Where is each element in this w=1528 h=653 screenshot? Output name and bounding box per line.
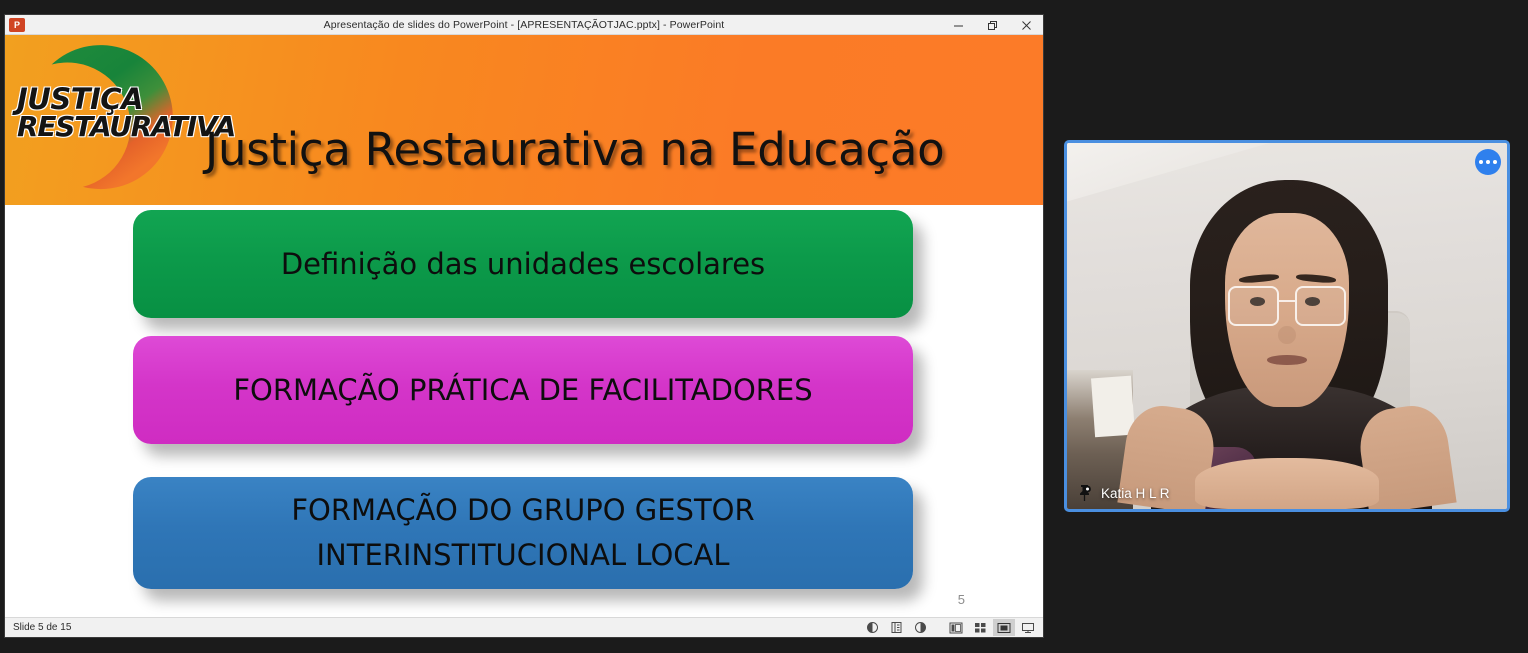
slide-body: Definição das unidades escolares FORMAÇÃ…	[5, 205, 1043, 617]
more-dot-2	[1486, 160, 1490, 164]
glasses-bridge	[1279, 300, 1296, 302]
glasses-lens-left	[1228, 286, 1279, 326]
restore-icon[interactable]	[975, 15, 1009, 35]
chip-3-label-line-2: INTERINSTITUCIONAL LOCAL	[316, 533, 729, 578]
close-icon[interactable]	[1009, 15, 1043, 35]
window-controls	[941, 15, 1043, 35]
glasses-lens-right	[1295, 286, 1346, 326]
background-paper	[1091, 376, 1135, 437]
minimize-icon[interactable]	[941, 15, 975, 35]
fit-slide-icon[interactable]	[885, 619, 907, 636]
logo-line-1: JUSTIÇA	[17, 85, 193, 113]
participant-video-tile[interactable]: Katia H L R	[1064, 140, 1510, 512]
zoom-in-icon[interactable]	[909, 619, 931, 636]
chip-3-label-line-1: FORMAÇÃO DO GRUPO GESTOR	[291, 488, 754, 533]
person-nose	[1278, 326, 1296, 344]
more-dot-1	[1479, 160, 1483, 164]
powerpoint-window: P Apresentação de slides do PowerPoint -…	[4, 14, 1044, 638]
chip-1-label: Definição das unidades escolares	[281, 247, 765, 281]
slide-sorter-icon[interactable]	[969, 619, 991, 636]
more-dot-3	[1493, 160, 1497, 164]
reading-view-icon[interactable]	[993, 619, 1015, 636]
person-mouth	[1267, 355, 1307, 365]
window-title: Apresentação de slides do PowerPoint - […	[5, 19, 1043, 31]
video-feed	[1067, 143, 1507, 509]
justica-restaurativa-logo: JUSTIÇA RESTAURATIVA	[11, 37, 197, 201]
status-bar: Slide 5 de 15	[5, 617, 1043, 637]
slide-title: Justiça Restaurativa na Educação	[205, 123, 944, 176]
window-titlebar[interactable]: P Apresentação de slides do PowerPoint -…	[5, 15, 1043, 35]
slide-canvas[interactable]: JUSTIÇA RESTAURATIVA Justiça Restaurativ…	[5, 35, 1043, 617]
chip-2-label: FORMAÇÃO PRÁTICA DE FACILITADORES	[233, 373, 812, 407]
screen-root: P Apresentação de slides do PowerPoint -…	[0, 0, 1528, 653]
pin-icon[interactable]	[1076, 483, 1094, 503]
person-glasses	[1228, 286, 1347, 326]
chip-definicao-unidades-escolares[interactable]: Definição das unidades escolares	[133, 210, 913, 318]
chip-formacao-pratica-facilitadores[interactable]: FORMAÇÃO PRÁTICA DE FACILITADORES	[133, 336, 913, 444]
participant-name-bar: Katia H L R	[1067, 483, 1170, 503]
participant-name-label: Katia H L R	[1101, 486, 1170, 501]
slide-status-text: Slide 5 de 15	[13, 622, 71, 633]
slideshow-icon[interactable]	[1017, 619, 1039, 636]
slide-header-banner: JUSTIÇA RESTAURATIVA Justiça Restaurativ…	[5, 35, 1043, 205]
slide-number: 5	[958, 592, 965, 607]
video-overlay-top	[1475, 149, 1501, 175]
chip-formacao-grupo-gestor[interactable]: FORMAÇÃO DO GRUPO GESTOR INTERINSTITUCIO…	[133, 477, 913, 589]
more-options-icon[interactable]	[1475, 149, 1501, 175]
status-bar-icons	[861, 619, 1039, 636]
zoom-out-icon[interactable]	[861, 619, 883, 636]
logo-line-2: RESTAURATIVA	[17, 113, 193, 140]
person-hands	[1195, 458, 1380, 509]
normal-view-icon[interactable]	[945, 619, 967, 636]
